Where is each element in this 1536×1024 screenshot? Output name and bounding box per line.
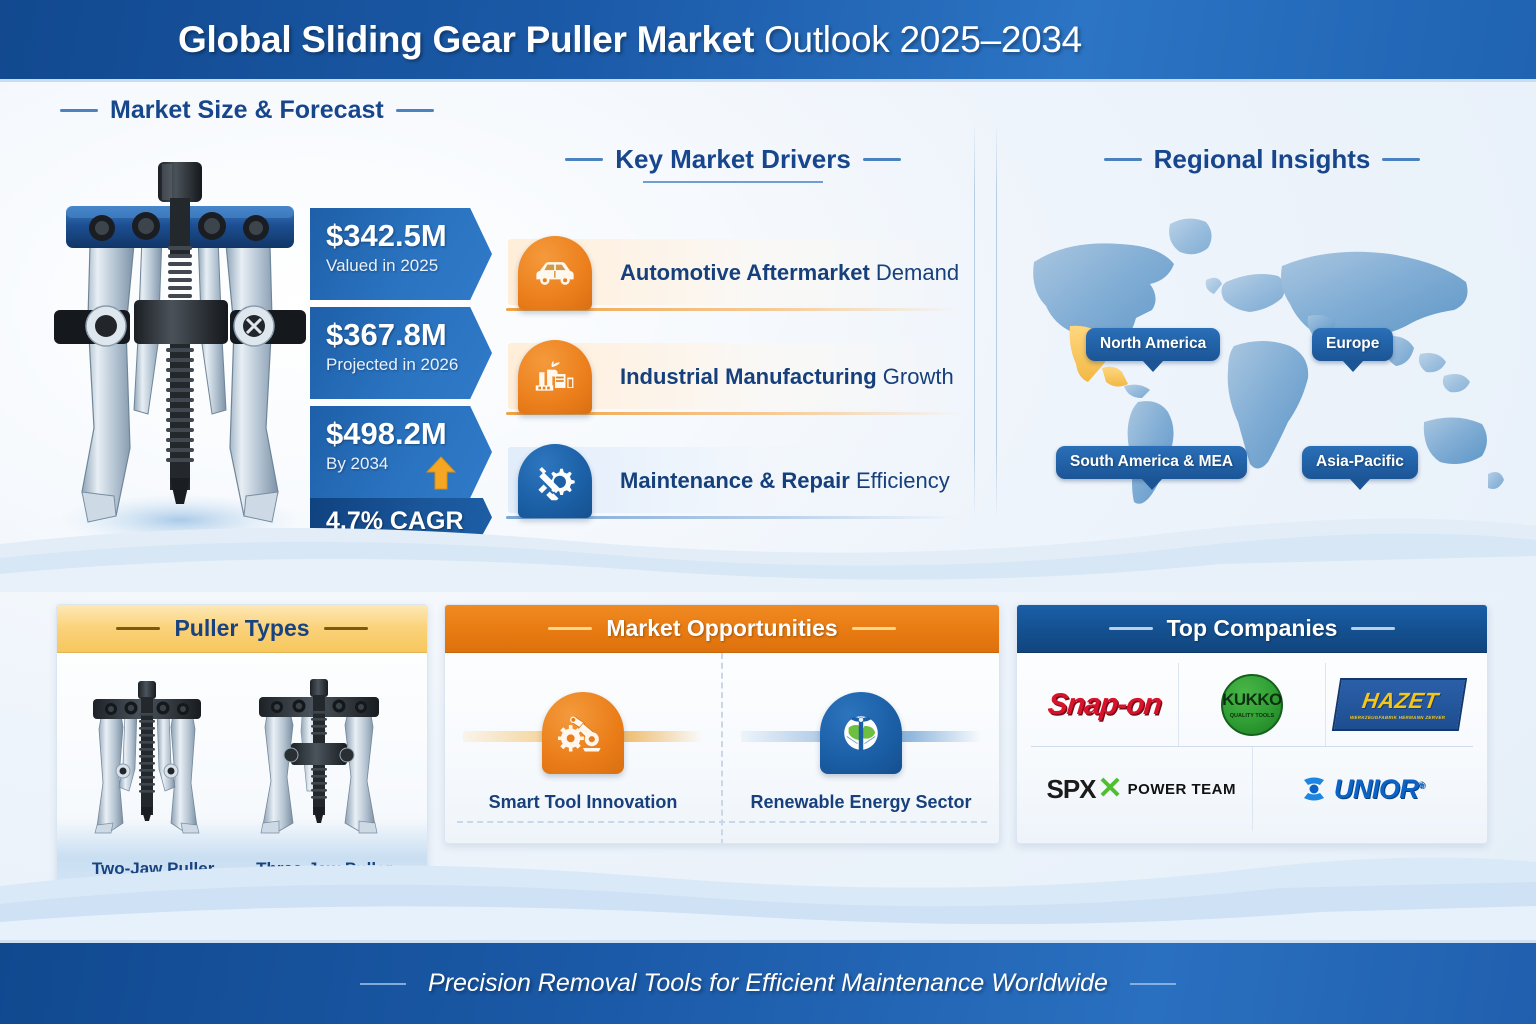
driver-row-manufacturing: Industrial Manufacturing Growth [498,325,968,429]
companies-heading-text: Top Companies [1167,615,1338,642]
map-pin-south-america-mea[interactable]: South America & MEA [1056,446,1247,479]
spx-power-team-logo: SPX ✕ POWER TEAM [1046,774,1236,805]
unior-mark-icon [1301,776,1327,802]
map-pin-label: Europe [1326,335,1379,352]
market-size-heading-text: Market Size & Forecast [110,96,384,125]
heading-dash-right [1351,627,1395,630]
unior-logo-text: UNIOR [1334,774,1419,804]
world-map-svg [1010,206,1522,536]
opportunities-heading: Market Opportunities [445,605,999,653]
regional-insights-panel: Regional Insights [1002,96,1522,566]
map-pin-label: North America [1100,335,1206,352]
robot-gear-icon [542,692,624,774]
wave-divider-bottom [0,820,1536,940]
page-title-light: Outlook 2025–2034 [754,19,1082,60]
opportunities-body: Smart Tool Innovation [445,653,999,844]
spx-logo-name: SPX [1046,774,1095,805]
page-title-bold: Global Sliding Gear Puller Market [178,19,754,60]
logo-cell-unior[interactable]: UNIOR® [1252,747,1474,831]
hazet-logo-name: HAZET [1360,688,1440,714]
spx-x-mark: ✕ [1098,777,1123,801]
car-icon [518,236,592,310]
stat-banner: $342.5M Valued in 2025 [310,208,492,300]
kukko-logo-name: KUKKO [1222,690,1282,710]
hazet-logo-tagline: WERKZEUGFABRIK HERMANN ZERVER [1350,715,1446,720]
hazet-logo: HAZET WERKZEUGFABRIK HERMANN ZERVER [1332,678,1468,731]
logo-cell-hazet[interactable]: HAZET WERKZEUGFABRIK HERMANN ZERVER [1325,663,1473,746]
kukko-logo-tagline: QUALITY TOOLS [1230,713,1274,719]
logo-cell-spx[interactable]: SPX ✕ POWER TEAM [1031,747,1252,831]
registered-mark-icon: ® [1418,780,1424,790]
heading-dash-right [324,627,368,630]
heading-dash-left [565,158,603,161]
arrow-up-icon [426,456,456,490]
opportunities-heading-text: Market Opportunities [606,615,837,642]
kukko-logo: KUKKO QUALITY TOOLS [1221,674,1283,736]
regional-heading: Regional Insights [1002,144,1522,175]
company-logo-grid: Snap-on KUKKO QUALITY TOOLS HAZET WERKZE… [1017,653,1487,831]
page-title: Global Sliding Gear Puller Market Outloo… [178,19,1082,61]
header-bar: Global Sliding Gear Puller Market Outloo… [0,0,1536,82]
opportunity-label: Renewable Energy Sector [750,792,971,813]
market-size-heading: Market Size & Forecast [22,96,492,125]
key-market-drivers-panel: Key Market Drivers [498,96,968,566]
driver-label-light: Growth [877,364,954,389]
opportunity-label: Smart Tool Innovation [489,792,678,813]
driver-label-light: Efficiency [850,468,950,493]
heading-dash-left [60,109,98,112]
driver-label-bold: Automotive Aftermarket [620,260,870,285]
driver-row-automotive: Automotive Aftermarket Demand [498,221,968,325]
heading-dash-left [116,627,160,630]
logo-cell-kukko[interactable]: KUKKO QUALITY TOOLS [1178,663,1326,746]
heading-dash-right [852,627,896,630]
heading-dash-right [396,109,434,112]
heading-dash-left [1109,627,1153,630]
two-jaw-puller-image [93,681,201,833]
unior-logo: UNIOR® [1301,774,1425,805]
gear-puller-tool-image [30,148,330,548]
gear-wrench-icon [518,444,592,518]
drivers-heading-text: Key Market Drivers [615,144,851,175]
stat-value: $498.2M [326,418,492,451]
stat-label: Valued in 2025 [326,256,492,276]
puller-types-heading: Puller Types [57,605,427,653]
stat-banner-list: $342.5M Valued in 2025 $367.8M Projected… [310,208,492,544]
factory-icon [518,340,592,414]
three-jaw-puller-image [259,679,379,833]
footer-dash-left [360,983,406,985]
logo-cell-snapon[interactable]: Snap-on [1031,663,1178,746]
puller-types-heading-text: Puller Types [174,615,309,642]
wave-divider-middle [0,500,1536,592]
map-pin-label: Asia-Pacific [1316,453,1404,470]
driver-label-bold: Industrial Manufacturing [620,364,877,389]
driver-label: Automotive Aftermarket Demand [620,260,959,286]
wind-turbine-globe-icon [820,692,902,774]
map-pin-europe[interactable]: Europe [1312,328,1393,361]
logo-row-bottom: SPX ✕ POWER TEAM UNIOR® [1031,747,1473,831]
spx-logo-suffix: POWER TEAM [1128,781,1236,798]
puller-types-images [75,673,411,841]
heading-underline [643,181,823,183]
map-pin-label: South America & MEA [1070,453,1233,470]
panel-divider-left [974,120,975,520]
top-companies-card: Top Companies Snap-on KUKKO QUALITY TOOL… [1016,604,1488,844]
driver-label: Maintenance & Repair Efficiency [620,468,950,494]
logo-row-top: Snap-on KUKKO QUALITY TOOLS HAZET WERKZE… [1031,663,1473,747]
driver-label: Industrial Manufacturing Growth [620,364,954,390]
regional-heading-text: Regional Insights [1154,144,1371,175]
heading-dash-right [1382,158,1420,161]
stat-label: Projected in 2026 [326,355,492,375]
footer-bar: Precision Removal Tools for Efficient Ma… [0,940,1536,1024]
stat-label: By 2034 [326,454,492,474]
stat-value: $342.5M [326,220,492,253]
stat-value: $367.8M [326,319,492,352]
infographic-canvas: Global Sliding Gear Puller Market Outloo… [0,0,1536,1024]
companies-heading: Top Companies [1017,605,1487,653]
heading-dash-left [548,627,592,630]
footer-dash-right [1130,983,1176,985]
map-pin-asia-pacific[interactable]: Asia-Pacific [1302,446,1418,479]
map-pin-north-america[interactable]: North America [1086,328,1220,361]
heading-dash-left [1104,158,1142,161]
world-map: North America Europe South America & MEA… [1010,206,1522,536]
market-size-panel: Market Size & Forecast [22,96,492,566]
driver-label-light: Demand [870,260,959,285]
drivers-list: Automotive Aftermarket Demand [498,221,968,533]
driver-label-bold: Maintenance & Repair [620,468,850,493]
footer-tagline: Precision Removal Tools for Efficient Ma… [428,969,1108,998]
snapon-logo: Snap-on [1046,688,1163,722]
market-opportunities-card: Market Opportunities [444,604,1000,844]
panel-divider-right [996,120,997,520]
opportunity-smart-tool: Smart Tool Innovation [445,653,721,844]
stat-banner: $367.8M Projected in 2026 [310,307,492,399]
drivers-heading: Key Market Drivers [498,144,968,175]
unior-logo-name: UNIOR® [1334,774,1425,805]
stat-banner: $498.2M By 2034 [310,406,492,498]
heading-dash-right [863,158,901,161]
opportunity-renewable-energy: Renewable Energy Sector [721,653,999,844]
